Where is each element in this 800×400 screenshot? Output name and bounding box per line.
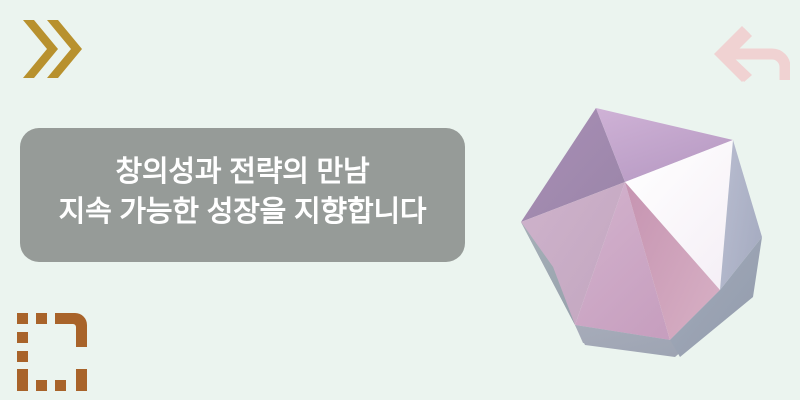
dashed-corner-bracket-icon [17,313,87,391]
headline-line-2: 지속 가능한 성장을 지향합니다 [59,193,427,233]
headline-line-1: 창의성과 전략의 만남 [115,153,369,193]
double-chevron-right-icon [20,18,82,80]
return-arrow-icon [712,18,790,82]
banner-canvas: 창의성과 전략의 만남 지속 가능한 성장을 지향합니다 [0,0,800,400]
icosahedron-graphic [505,85,780,360]
headline-plate: 창의성과 전략의 만남 지속 가능한 성장을 지향합니다 [20,128,465,262]
